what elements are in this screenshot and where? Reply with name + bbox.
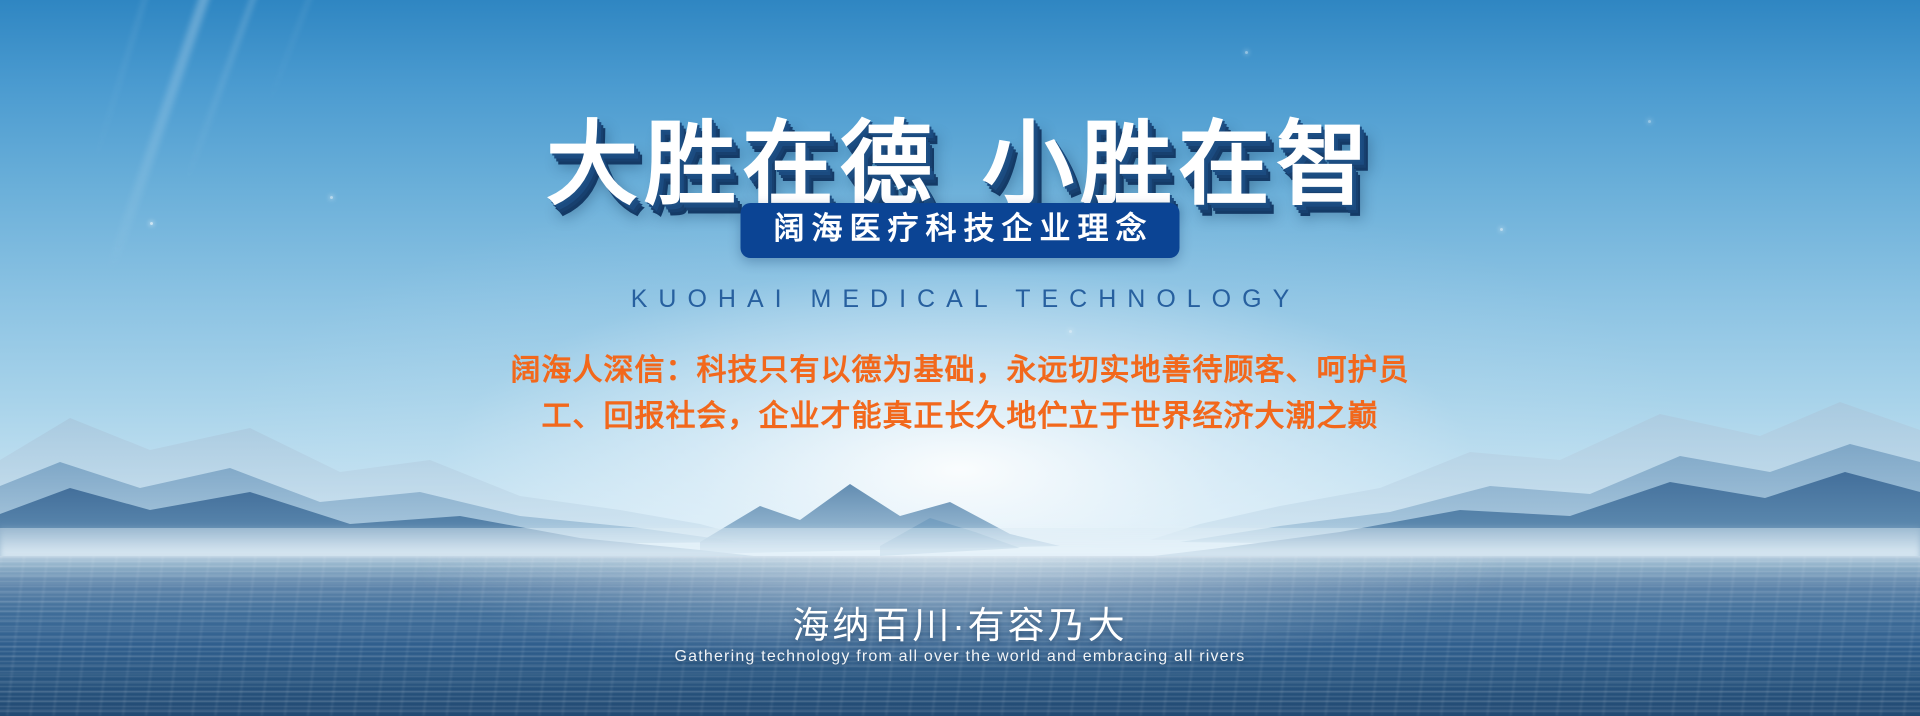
banner-content: 大胜在德小胜在智 阔海医疗科技企业理念 KUOHAI MEDICAL TECHN… [0, 0, 1920, 716]
main-title-part1: 大胜在德 [546, 114, 938, 216]
main-title-part2: 小胜在智 [982, 114, 1374, 216]
english-subtitle: KUOHAI MEDICAL TECHNOLOGY [0, 285, 1920, 314]
hero-banner: 大胜在德小胜在智 阔海医疗科技企业理念 KUOHAI MEDICAL TECHN… [0, 0, 1920, 716]
badge-label: 阔海医疗科技企业理念 [767, 212, 1154, 247]
statement-line-1: 阔海人深信：科技只有以德为基础，永远切实地善待顾客、呵护员 [445, 348, 1475, 394]
philosophy-statement: 阔海人深信：科技只有以德为基础，永远切实地善待顾客、呵护员 工、回报社会，企业才… [445, 348, 1475, 440]
slogan-english: Gathering technology from all over the w… [0, 648, 1920, 666]
statement-line-2: 工、回报社会，企业才能真正长久地伫立于世界经济大潮之巅 [445, 394, 1475, 440]
company-philosophy-badge: 阔海医疗科技企业理念 [741, 203, 1180, 258]
slogan-chinese: 海纳百川·有容乃大 [0, 595, 1920, 649]
main-title: 大胜在德小胜在智 [0, 116, 1920, 215]
